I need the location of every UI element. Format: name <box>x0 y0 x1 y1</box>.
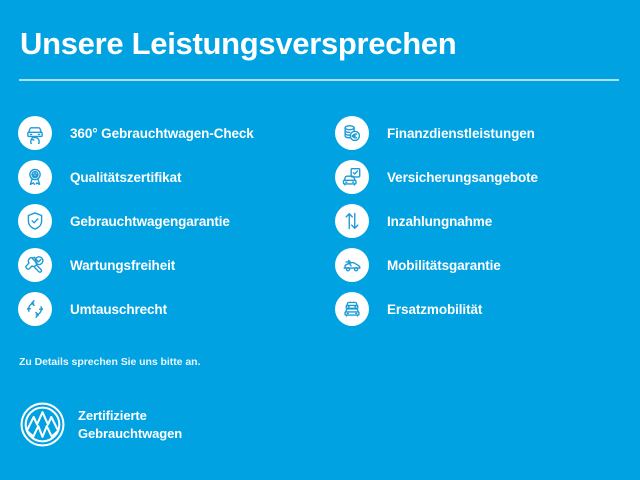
coins-euro-icon <box>335 116 369 150</box>
exchange-arrows-icon <box>18 292 52 326</box>
car-document-check-icon <box>335 160 369 194</box>
feature-column-right: Finanzdienstleistungen Versicherungsange… <box>335 111 625 331</box>
feature-label: Inzahlungnahme <box>387 214 492 229</box>
page-title: Unsere Leistungsversprechen <box>20 26 456 62</box>
feature-item[interactable]: Qualitätszertifikat <box>18 155 318 199</box>
feature-item[interactable]: Versicherungsangebote <box>335 155 625 199</box>
title-divider <box>19 79 619 81</box>
feature-item[interactable]: Finanzdienstleistungen <box>335 111 625 155</box>
feature-label: 360° Gebrauchtwagen-Check <box>70 126 254 141</box>
feature-item[interactable]: Umtauschrecht <box>18 287 318 331</box>
two-cars-icon <box>335 292 369 326</box>
feature-item[interactable]: 360° Gebrauchtwagen-Check <box>18 111 318 155</box>
car-360-check-icon <box>18 116 52 150</box>
feature-item[interactable]: Ersatzmobilität <box>335 287 625 331</box>
feature-label: Gebrauchtwagengarantie <box>70 214 230 229</box>
feature-label: Ersatzmobilität <box>387 302 482 317</box>
feature-item[interactable]: Wartungsfreiheit <box>18 243 318 287</box>
feature-label: Mobilitätsgarantie <box>387 258 501 273</box>
brand-line-2: Gebrauchtwagen <box>78 425 182 442</box>
brand-text: Zertifizierte Gebrauchtwagen <box>78 407 182 441</box>
feature-label: Umtauschrecht <box>70 302 167 317</box>
feature-label: Qualitätszertifikat <box>70 170 181 185</box>
promise-slide: Unsere Leistungsversprechen 360° Gebrauc… <box>0 0 640 480</box>
feature-column-left: 360° Gebrauchtwagen-Check Qualitätszerti… <box>18 111 318 331</box>
feature-item[interactable]: Inzahlungnahme <box>335 199 625 243</box>
feature-item[interactable]: Gebrauchtwagengarantie <box>18 199 318 243</box>
brand-lockup: Zertifizierte Gebrauchtwagen <box>19 401 182 448</box>
wrench-check-icon <box>18 248 52 282</box>
feature-label: Finanzdienstleistungen <box>387 126 535 141</box>
feature-label: Versicherungsangebote <box>387 170 538 185</box>
volkswagen-logo-icon <box>19 401 66 448</box>
car-tow-icon <box>335 248 369 282</box>
feature-item[interactable]: Mobilitätsgarantie <box>335 243 625 287</box>
shield-check-icon <box>18 204 52 238</box>
quality-rosette-icon <box>18 160 52 194</box>
feature-label: Wartungsfreiheit <box>70 258 175 273</box>
footnote-text: Zu Details sprechen Sie uns bitte an. <box>19 356 200 368</box>
brand-line-1: Zertifizierte <box>78 407 182 424</box>
arrows-up-down-icon <box>335 204 369 238</box>
